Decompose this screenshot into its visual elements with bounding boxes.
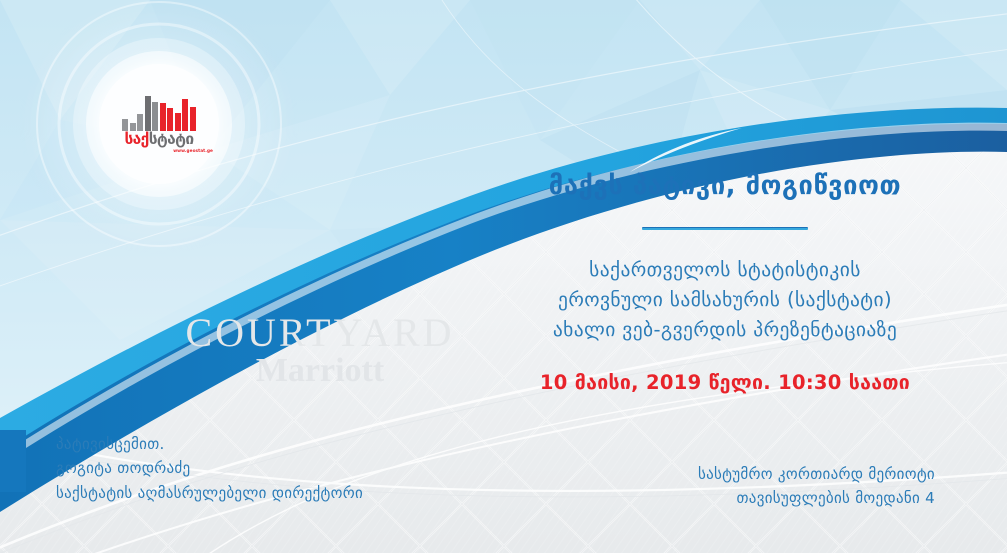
signature-line-3: საქსტატის აღმასრულებელი დირექტორი [56,481,363,505]
invitation-datetime: 10 მაისი, 2019 წელი. 10:30 საათი [515,371,935,394]
invitation-body-line-3: ახალი ვებ-გვერდის პრეზენტაციაზე [515,315,935,345]
invitation-body: საქართველოს სტატისტიკისეროვნული სამსახურ… [515,255,935,344]
logo-bar-8 [175,113,181,131]
venue-line-1: სასტუმრო კორთიარდ მერიოტი [515,462,935,486]
invitation-body-line-1: საქართველოს სტატისტიკის [515,255,935,285]
logo-ring: საქსტატი www.geostat.ge [86,51,232,197]
logo-bar-7 [167,108,173,130]
geostat-logo: საქსტატი www.geostat.ge [99,64,219,184]
invitation-title: მაქვს პატივი, მოგიწვიოთ [515,172,935,201]
venue-line-2: თავისუფლების მოედანი 4 [515,486,935,510]
signature-block: პატივისცემით.გოგიტა თოდრაძესაქსტატის აღმ… [56,432,363,505]
logo-bar-5 [152,102,158,131]
logo-bar-3 [137,114,143,131]
invitation-card: საქსტატი www.geostat.ge COURTYARD Marrio… [0,0,1007,553]
invitation-text-block: მაქვს პატივი, მოგიწვიოთ საქართველოს სტატ… [515,172,935,394]
logo-bar-9 [182,99,188,131]
logo-medallion: საქსტატი www.geostat.ge [73,38,245,210]
logo-bar-4 [145,96,151,131]
geostat-bar-chart-logo-icon [122,95,196,131]
title-divider [642,227,808,230]
logo-bar-6 [160,103,166,130]
left-accent-block [0,430,26,492]
logo-bar-10 [190,107,196,131]
logo-wordmark: საქსტატი [124,132,193,148]
venue-block: სასტუმრო კორთიარდ მერიოტითავისუფლების მო… [515,462,935,511]
signature-line-1: პატივისცემით. [56,432,363,456]
logo-wordmark-red: საქ [124,130,148,148]
invitation-body-line-2: ეროვნული სამსახურის (საქსტატი) [515,285,935,315]
logo-url: www.geostat.ge [173,148,213,153]
signature-line-2: გოგიტა თოდრაძე [56,456,363,480]
logo-wordmark-gray: სტატი [149,130,194,148]
